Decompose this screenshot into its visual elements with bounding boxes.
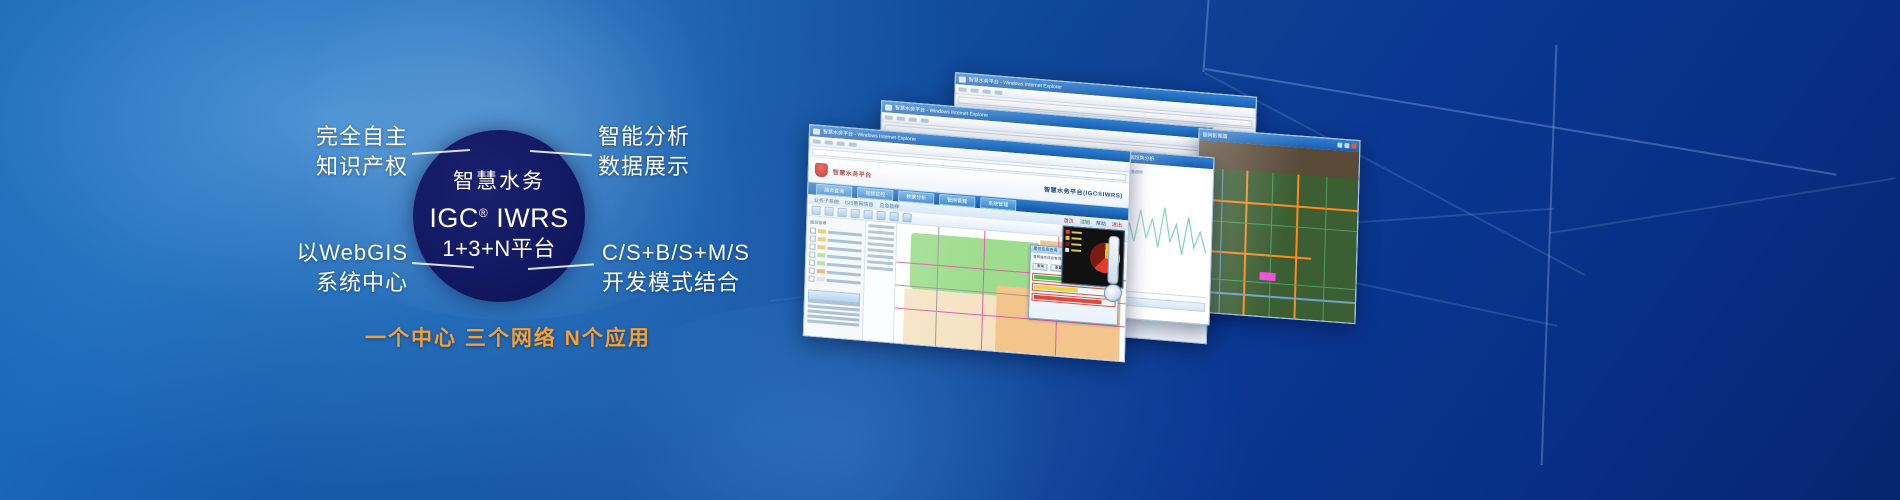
grid-vertical-right: [1541, 45, 1558, 465]
toolbar-button[interactable]: [811, 205, 820, 215]
registered-mark-icon: ®: [479, 206, 488, 220]
browser-icon: [813, 128, 820, 135]
toolbar-button[interactable]: [863, 210, 872, 220]
core-circle: 智慧水务 IGC® IWRS 1+3+N平台: [413, 130, 585, 302]
toolbar-button[interactable]: [876, 211, 885, 221]
satmap-road: [1196, 250, 1311, 261]
menu-item[interactable]: [970, 88, 978, 93]
palette-tool[interactable]: [868, 230, 894, 235]
grid-edge-right: [1550, 177, 1896, 234]
menu-item[interactable]: [849, 142, 857, 147]
quick-link[interactable]: 帮助: [1096, 219, 1106, 227]
quick-link[interactable]: 退出: [1112, 221, 1122, 229]
satellite-map-canvas[interactable]: [1194, 140, 1359, 323]
browser-icon: [885, 104, 892, 111]
chart-legend-bar: [1121, 296, 1205, 312]
water-drop-logo-icon: [815, 163, 828, 178]
tagline: 一个中心 三个网络 N个应用: [365, 322, 785, 352]
window-front-system-title: 智慧水务平台(IGC®IWRS): [1044, 184, 1123, 199]
status-bar-red: [1034, 295, 1102, 305]
menu-item[interactable]: [909, 117, 917, 122]
close-icon[interactable]: [1351, 143, 1356, 148]
palette-tool[interactable]: [867, 266, 893, 271]
menu-item[interactable]: [897, 116, 905, 121]
feature-top-left: 完全自主 知识产权: [268, 122, 408, 182]
window-satellite-map[interactable]: 管网影像图: [1193, 128, 1360, 324]
feature-bottom-left-line2: 系统中心: [258, 268, 408, 298]
feature-bottom-right-line2: 开发模式结合: [602, 268, 792, 298]
feature-top-right-line2: 数据展示: [598, 152, 778, 182]
menu-item[interactable]: [958, 87, 966, 92]
chart-plot-area: 流量趋势: [1117, 162, 1214, 324]
satmap-highlight-marker: [1259, 271, 1275, 280]
palette-tool[interactable]: [867, 254, 893, 259]
core-brand-suffix: IWRS: [496, 203, 569, 233]
menu-item[interactable]: [982, 89, 990, 94]
core-line-1: 智慧水务: [453, 169, 545, 195]
palette-tool[interactable]: [868, 248, 894, 253]
toolbar-button[interactable]: [824, 206, 833, 216]
browser-icon: [959, 76, 966, 83]
menu-item[interactable]: [994, 90, 1002, 95]
map-tool-palette[interactable]: [863, 221, 898, 352]
feature-top-right-line1: 智能分析: [598, 122, 778, 152]
feature-bottom-right: C/S+B/S+M/S 开发模式结合: [602, 238, 792, 298]
core-line-3: 1+3+N平台: [442, 234, 556, 264]
feature-top-right: 智能分析 数据展示: [598, 122, 778, 182]
grid-vertical-left: [1202, 0, 1209, 72]
subnav-item[interactable]: 业务子系统: [814, 196, 839, 205]
dialog-ok-button[interactable]: 查询: [1033, 263, 1048, 271]
toolbar-button[interactable]: [889, 212, 898, 222]
satmap-road-blue: [1218, 169, 1223, 313]
menu-item[interactable]: [921, 118, 929, 123]
minimize-icon[interactable]: [1337, 142, 1342, 147]
layer-tree-panel[interactable]: 图层管理: [804, 216, 867, 349]
palette-tool[interactable]: [867, 260, 893, 265]
feature-bottom-right-line1: C/S+B/S+M/S: [602, 238, 792, 268]
map-pan-compass-icon[interactable]: [1104, 284, 1122, 302]
palette-tool[interactable]: [868, 236, 894, 241]
core-brand-prefix: IGC: [429, 203, 479, 233]
quick-link[interactable]: 注销: [1080, 218, 1090, 226]
menu-item[interactable]: [885, 115, 893, 120]
feature-top-left-line1: 完全自主: [268, 122, 408, 152]
chart-line-series: [1118, 178, 1213, 275]
menu-item[interactable]: [813, 139, 821, 144]
banner-root: 智慧水务平台 - Windows Internet Explorer 智慧水务平…: [0, 0, 1900, 500]
feature-top-left-line2: 知识产权: [268, 152, 408, 182]
menu-item[interactable]: [825, 140, 833, 145]
palette-tool[interactable]: [868, 224, 894, 229]
toolbar-button[interactable]: [837, 208, 846, 218]
quick-link[interactable]: 首页: [1064, 217, 1074, 225]
feature-bottom-left-line1: 以WebGIS: [258, 238, 408, 268]
window-satmap-title: 管网影像图: [1202, 131, 1227, 140]
toolbar-button[interactable]: [902, 213, 911, 223]
palette-tool[interactable]: [868, 242, 894, 247]
toolbar-button[interactable]: [850, 209, 859, 219]
feature-bottom-left: 以WebGIS 系统中心: [258, 238, 408, 298]
maximize-icon[interactable]: [1344, 143, 1349, 148]
subnav-item[interactable]: 应急指挥: [879, 201, 899, 210]
menu-item[interactable]: [837, 141, 845, 146]
map-zoom-slider[interactable]: [1107, 236, 1119, 285]
core-line-2: IGC® IWRS: [429, 197, 568, 234]
status-bar-yellow: [1034, 285, 1078, 293]
window-front-brand: 智慧水务平台: [833, 167, 872, 179]
